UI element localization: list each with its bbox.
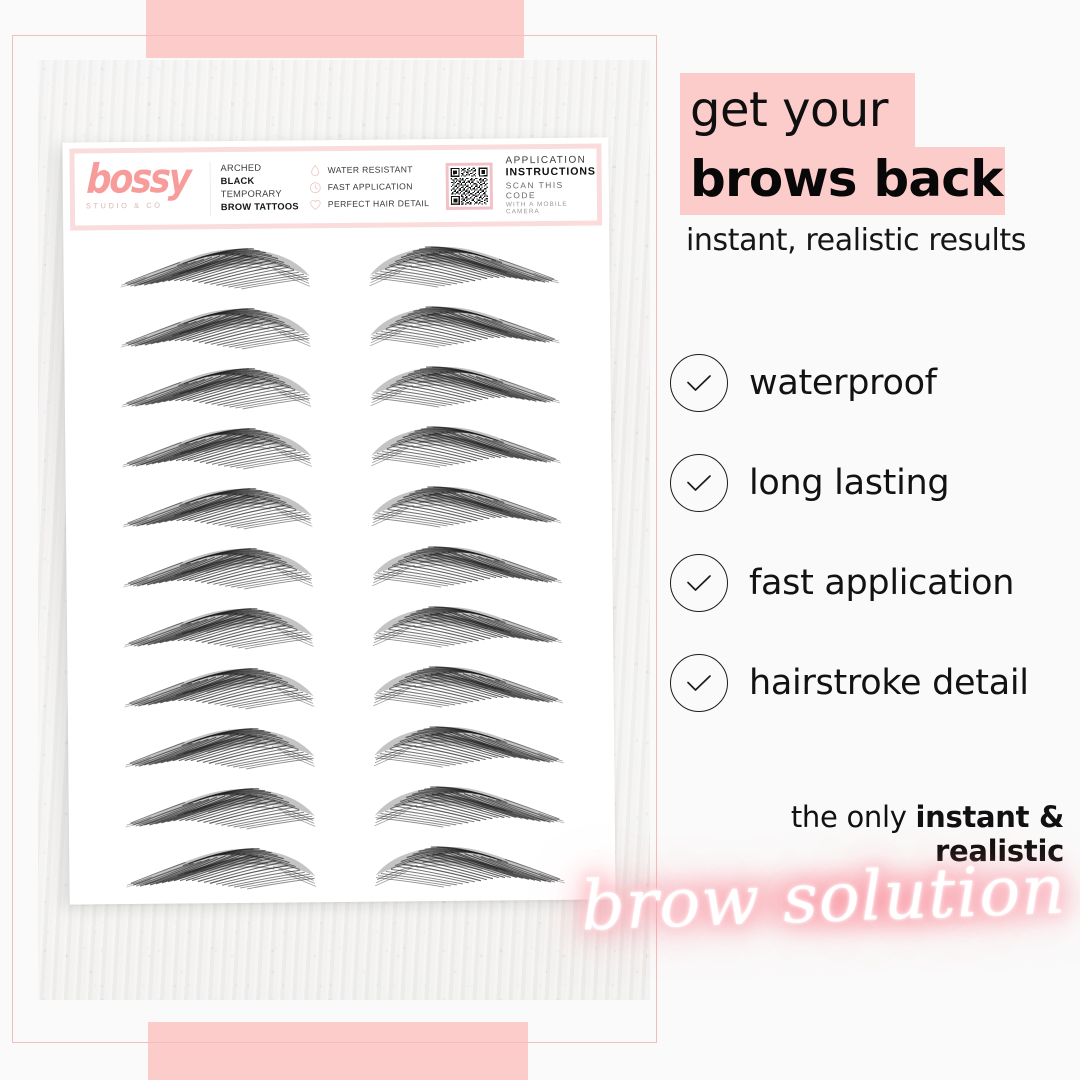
clock-icon [309,181,322,194]
brow-decal-right[interactable] [366,534,565,596]
benefit-item-long-lasting: long lasting [670,433,1080,533]
brow-decal-right[interactable] [369,834,568,896]
pink-accent-block-bottom [148,1022,528,1080]
spec-line-arched: ARCHED [220,161,302,175]
instructions-scan-line: SCAN THIS CODE [506,180,597,201]
brow-row [63,233,610,298]
feature-row-water-resistant: WATER RESISTANT [308,161,440,179]
benefit-item-waterproof: waterproof [670,333,1080,433]
instructions-title-line2: INSTRUCTIONS [506,166,597,179]
feature-label: WATER RESISTANT [328,164,413,175]
brow-row [68,713,615,778]
instructions-title-line1: APPLICATION [505,155,596,167]
feature-row-fast-application: FAST APPLICATION [309,178,441,196]
pink-accent-block-top [146,0,524,58]
brow-decal-left[interactable] [120,476,319,538]
brow-row [66,473,613,538]
brow-decal-left[interactable] [121,656,320,718]
check-circle-icon [670,354,728,412]
brow-row [67,653,614,718]
feature-list: WATER RESISTANT FAST APPLICATION PERFECT… [302,161,440,213]
qr-code-icon[interactable] [446,162,493,209]
brow-decal-right[interactable] [364,354,563,416]
brow-decal-right[interactable] [368,774,567,836]
headline-line-2: brows back [690,148,1003,210]
check-circle-icon [670,654,728,712]
brow-row [65,413,612,478]
neon-script-text: brow solution [565,829,1080,967]
benefit-label: long lasting [749,463,949,503]
brow-decal-right[interactable] [365,414,564,476]
heart-icon [309,198,322,211]
brow-decal-left[interactable] [118,296,317,358]
sheet-header-bar: bossy STUDIO & CO ARCHED BLACK TEMPORARY… [69,143,602,230]
spec-line-brow-tattoos: BROW TATTOOS [221,201,303,215]
brow-row [66,533,613,598]
brow-decal-right[interactable] [367,594,566,656]
spec-line-black: BLACK [221,174,303,188]
brow-decal-right[interactable] [367,654,566,716]
benefit-item-hairstroke-detail: hairstroke detail [670,633,1080,733]
neon-script-block: brow solution [567,838,1080,958]
water-drop-icon [308,164,321,177]
benefit-item-fast-application: fast application [670,533,1080,633]
spec-line-temporary: TEMPORARY [221,187,303,201]
benefit-label: hairstroke detail [749,663,1029,703]
brow-decal-left[interactable] [118,356,317,418]
brow-decal-left[interactable] [119,416,318,478]
brow-decal-left[interactable] [122,776,321,838]
product-listing-image: bossy STUDIO & CO ARCHED BLACK TEMPORARY… [0,0,1080,1080]
brow-decal-right[interactable] [368,714,567,776]
brow-decal-left[interactable] [123,836,322,898]
brow-row [67,593,614,658]
brow-decal-right[interactable] [363,234,562,296]
brow-row [64,353,611,418]
brow-decal-right[interactable] [364,294,563,356]
brow-decal-right[interactable] [366,474,565,536]
check-circle-icon [670,554,728,612]
check-circle-icon [670,454,728,512]
brow-decal-left[interactable] [117,236,316,298]
qr-code-block[interactable] [440,162,498,210]
instructions-camera-line: WITH A MOBILE CAMERA [506,201,597,216]
subheadline: instant, realistic results [686,222,1026,260]
brow-grid [63,233,615,898]
brow-decal-left[interactable] [121,596,320,658]
brand-logo: bossy STUDIO & CO [75,167,210,211]
brow-decal-left[interactable] [122,716,321,778]
feature-label: FAST APPLICATION [328,181,413,192]
brow-row [69,833,616,898]
benefits-list: waterproof long lasting fast application… [670,333,1080,733]
brow-decal-left[interactable] [120,536,319,598]
product-spec-list: ARCHED BLACK TEMPORARY BROW TATTOOS [210,161,303,215]
application-instructions: APPLICATION INSTRUCTIONS SCAN THIS CODE … [498,155,597,216]
brand-logo-wordmark: bossy [86,162,211,196]
feature-row-perfect-hair-detail: PERFECT HAIR DETAIL [309,195,441,213]
feature-label: PERFECT HAIR DETAIL [328,198,429,209]
brow-row [64,293,611,358]
tagline-plain: the only [791,800,916,834]
benefit-label: waterproof [749,363,937,403]
benefit-label: fast application [749,563,1014,603]
headline-line-1: get your [690,78,888,142]
brow-row [68,773,615,838]
marketing-panel: get your brows back instant, realistic r… [657,0,1080,1080]
brow-tattoo-sheet: bossy STUDIO & CO ARCHED BLACK TEMPORARY… [62,137,615,904]
